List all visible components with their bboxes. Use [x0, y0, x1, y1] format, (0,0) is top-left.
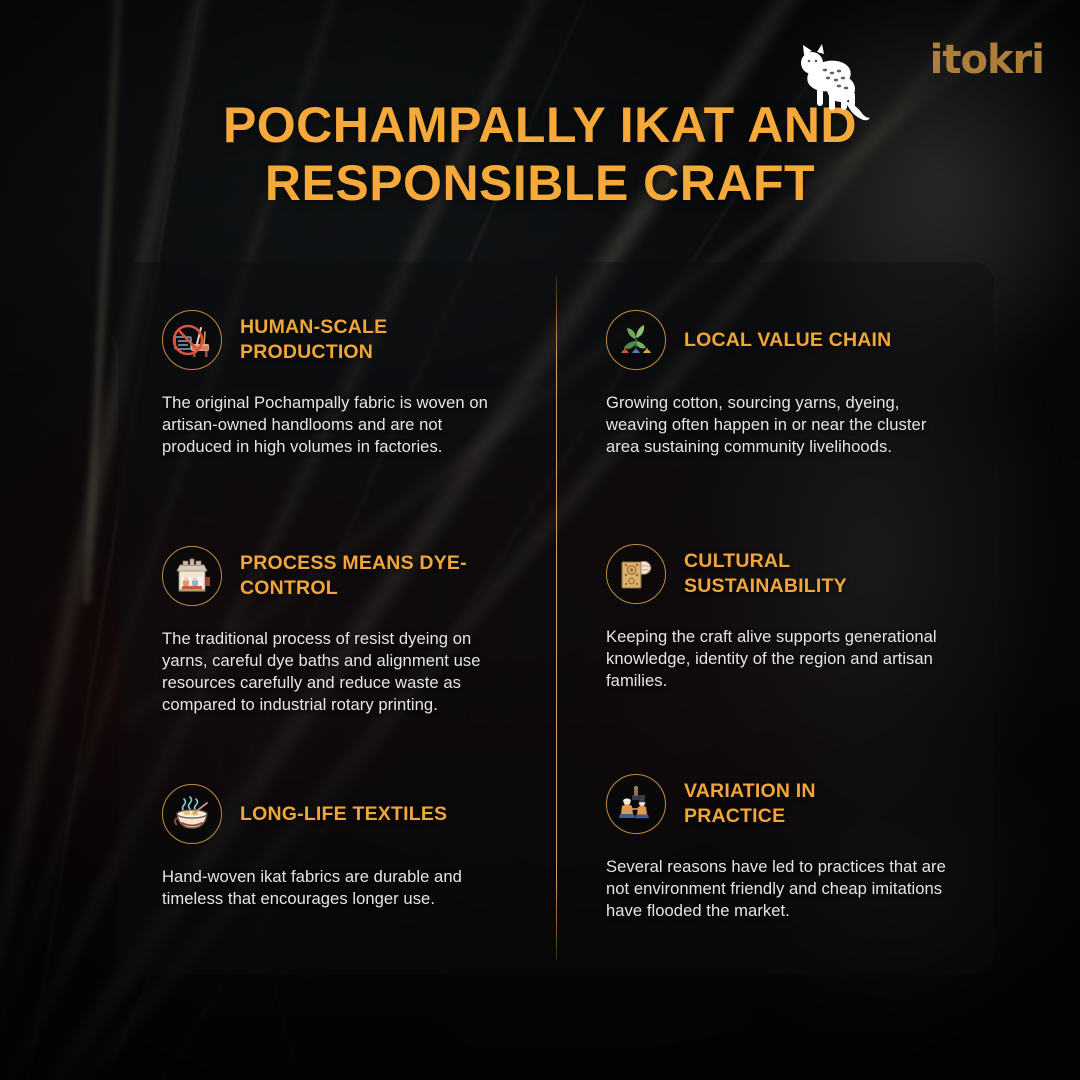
infographic-poster: itokri POCHAMPALLY IKAT AND RESPONSIBLE …: [0, 0, 1080, 1080]
feature-item-process-means-dye-control: PROCESS MEANS DYE-CONTROL The traditiona…: [162, 546, 514, 762]
feature-body: Several reasons have led to practices th…: [606, 856, 956, 922]
plant-leaves-dye-pigments-icon: [606, 310, 666, 370]
feature-title: VARIATION IN PRACTICE: [684, 779, 914, 829]
feature-item-cultural-sustainability: CULTURAL SUSTAINABILITY Keeping the craf…: [606, 544, 956, 752]
feature-item-local-value-chain: LOCAL VALUE CHAIN Growing cotton, sourci…: [606, 310, 956, 522]
feature-title: PROCESS MEANS DYE-CONTROL: [240, 551, 490, 601]
hand-holding-patterned-textile-icon: [606, 544, 666, 604]
feature-body: Keeping the craft alive supports generat…: [606, 626, 956, 692]
no-factory-loom-icon: [162, 310, 222, 370]
feature-title: LONG-LIFE TEXTILES: [240, 802, 447, 827]
itokri-logo: itokri: [930, 40, 1044, 80]
feature-body: Growing cotton, sourcing yarns, dyeing, …: [606, 392, 956, 458]
feature-body: The original Pochampally fabric is woven…: [162, 392, 514, 458]
right-column: LOCAL VALUE CHAIN Growing cotton, sourci…: [556, 262, 994, 974]
left-column: HUMAN-SCALE PRODUCTION The original Poch…: [118, 262, 556, 974]
page-title: POCHAMPALLY IKAT AND RESPONSIBLE CRAFT: [0, 96, 1080, 212]
workshop-building-icon: [162, 546, 222, 606]
feature-item-human-scale-production: HUMAN-SCALE PRODUCTION The original Poch…: [162, 310, 514, 524]
feature-title: LOCAL VALUE CHAIN: [684, 328, 891, 353]
column-divider: [556, 276, 557, 960]
two-artisans-weaving-icon: [606, 774, 666, 834]
feature-item-long-life-textiles: LONG-LIFE TEXTILES Hand-woven ikat fabri…: [162, 784, 514, 910]
feature-body: The traditional process of resist dyeing…: [162, 628, 514, 716]
feature-title: HUMAN-SCALE PRODUCTION: [240, 315, 490, 365]
feature-item-variation-in-practice: VARIATION IN PRACTICE Several reasons ha…: [606, 774, 956, 922]
page-title-line-2: RESPONSIBLE CRAFT: [0, 154, 1080, 212]
feature-title: CULTURAL SUSTAINABILITY: [684, 549, 914, 599]
feature-body: Hand-woven ikat fabrics are durable and …: [162, 866, 514, 910]
page-title-line-1: POCHAMPALLY IKAT AND: [0, 96, 1080, 154]
content-panel: HUMAN-SCALE PRODUCTION The original Poch…: [118, 262, 994, 974]
steaming-dye-pot-icon: [162, 784, 222, 844]
